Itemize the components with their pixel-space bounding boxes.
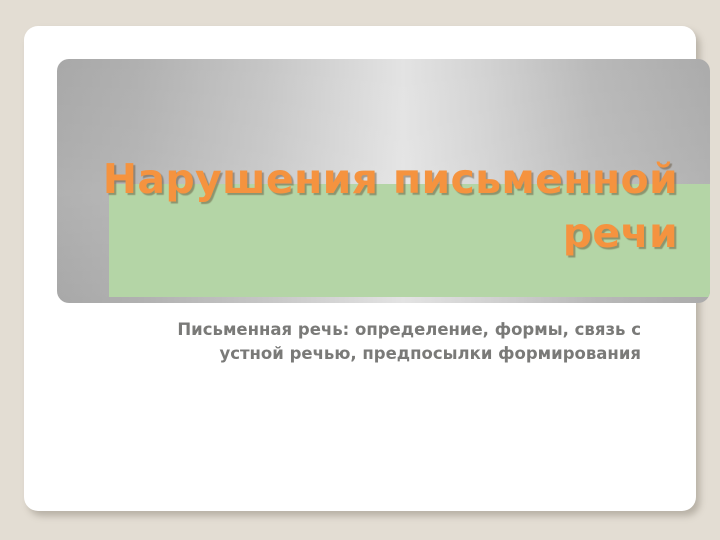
slide-card: Нарушения письменной речи Письменная реч… bbox=[24, 26, 696, 511]
slide-root: Нарушения письменной речи Письменная реч… bbox=[0, 0, 720, 540]
slide-title: Нарушения письменной речи bbox=[84, 152, 678, 260]
slide-subtitle: Письменная речь: определение, формы, свя… bbox=[134, 318, 641, 366]
